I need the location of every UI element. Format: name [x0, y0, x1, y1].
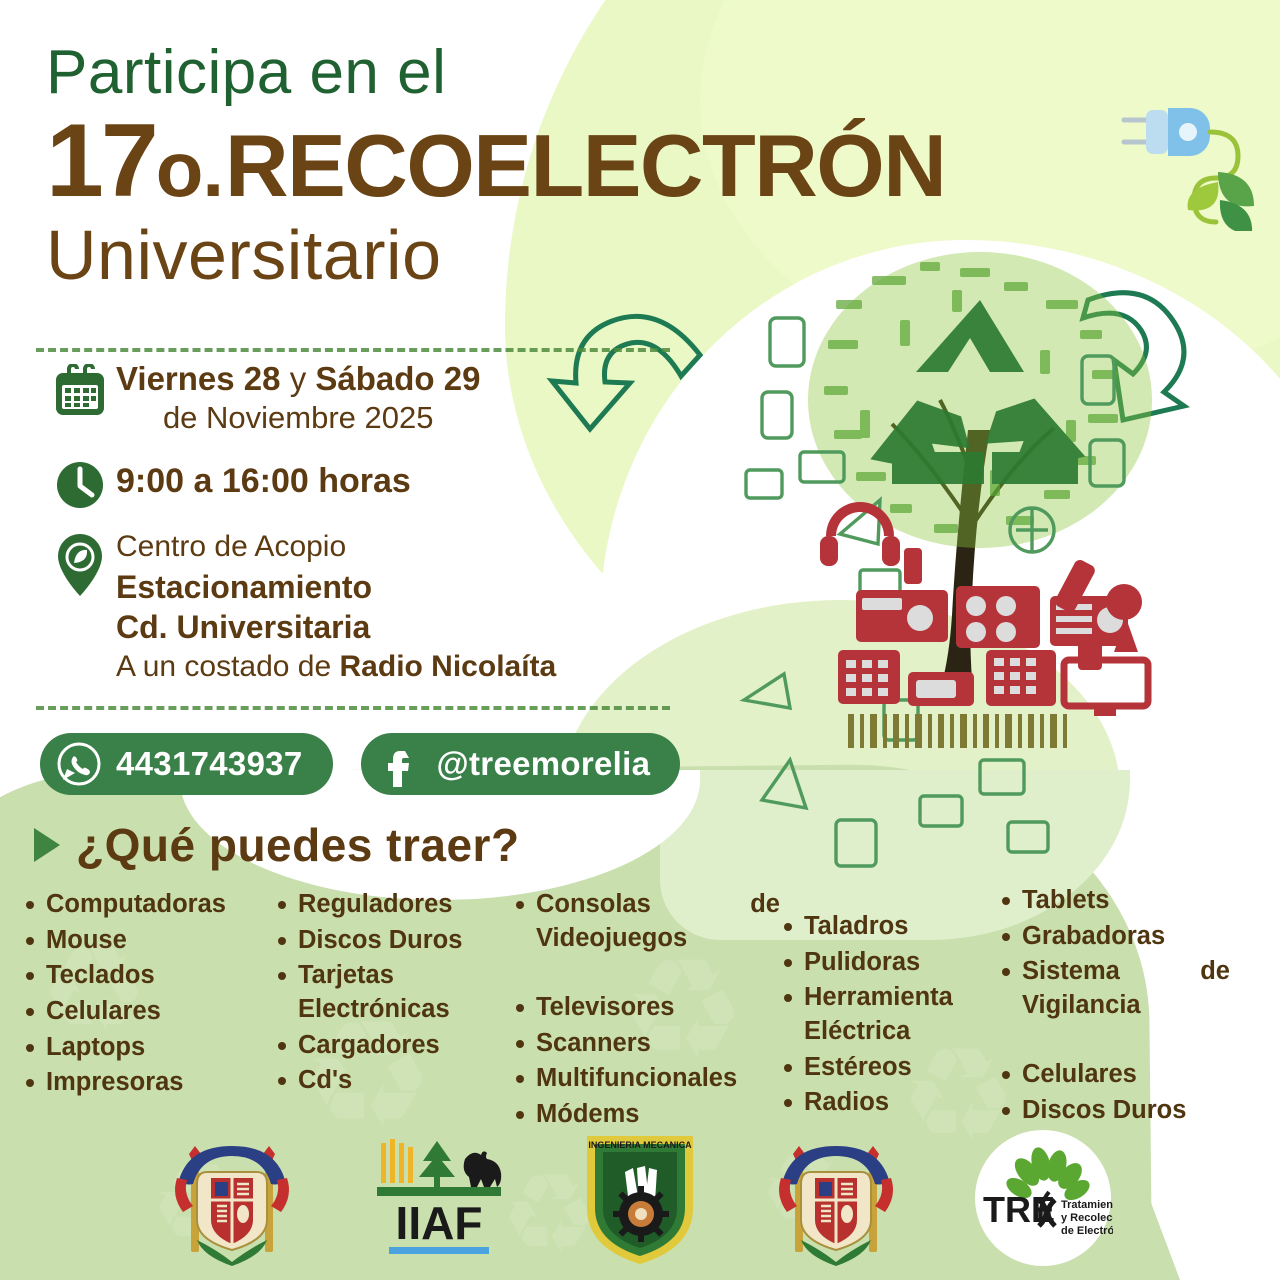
info-row-time: 9:00 a 16:00 horas — [44, 454, 724, 512]
list-item: Celulares — [22, 995, 274, 1029]
bring-column-5: Tablets Grabadoras Sistema de Vigilancia… — [998, 884, 1230, 1130]
bring-heading: ¿Qué puedes traer? — [76, 818, 520, 872]
event-title: 17 o. RECOELECTRÓN — [46, 111, 1246, 213]
list-item: Herramienta Eléctrica — [780, 981, 998, 1048]
bring-column-4: Taladros Pulidoras Herramienta Eléctrica… — [780, 910, 998, 1122]
bring-column-3: Consolas de Videojuegos Televisores Scan… — [512, 888, 780, 1134]
clock-icon — [44, 454, 116, 512]
list-item: Multifuncionales — [512, 1062, 780, 1096]
tre-logo: TRE Tratamiento y Recolección de Electró… — [973, 1128, 1113, 1268]
bring-column-1: Computadoras Mouse Teclados Celulares La… — [22, 888, 274, 1102]
contact-pills: 4431743937 @treemorelia — [40, 733, 680, 795]
place-text: Centro de Acopio Estacionamiento Cd. Uni… — [116, 528, 556, 687]
date-day-2: Sábado 29 — [315, 360, 480, 397]
place-line-4-landmark: Radio Nicolaíta — [340, 650, 557, 683]
list-item: Tablets — [998, 884, 1230, 918]
umsnh-seal-logo — [167, 1128, 297, 1268]
list-item: Cd's — [274, 1064, 512, 1098]
bring-columns: Computadoras Mouse Teclados Celulares La… — [22, 888, 1272, 1134]
tre-sub-3: de Electrónicos — [1061, 1225, 1113, 1237]
sponsor-logos: IIAF — [0, 1118, 1280, 1278]
umsnh-seal-logo-2 — [771, 1128, 901, 1268]
list-item: Reguladores — [274, 888, 512, 922]
divider-bottom — [36, 706, 670, 710]
power-plug-icon — [1118, 96, 1278, 231]
cow-icon — [464, 1151, 502, 1187]
tree-branches — [892, 400, 1054, 520]
iiaf-wordmark: IIAF — [396, 1197, 483, 1249]
bring-column-2: Reguladores Discos Duros Tarjetas Electr… — [274, 888, 512, 1100]
list-item: Mouse — [22, 924, 274, 958]
facebook-contact-button[interactable]: @treemorelia — [361, 733, 681, 795]
place-line-4: A un costado de Radio Nicolaíta — [116, 648, 556, 686]
list-item: Computadoras — [22, 888, 274, 922]
red-electronics-cluster — [820, 502, 1148, 716]
list-item: Pulidoras — [780, 946, 998, 980]
list-item: Estéreos — [780, 1051, 998, 1085]
event-info-block: Viernes 28 y Sábado 29 de Noviembre 2025… — [44, 360, 724, 703]
place-line-2: Estacionamiento — [116, 567, 556, 608]
list-item: Grabadoras — [998, 920, 1230, 954]
barcode-strip — [848, 714, 1067, 748]
ingenieria-mecanica-shield-logo: INGENIERIA MECANICA — [581, 1128, 699, 1268]
bring-heading-row: ¿Qué puedes traer? — [34, 818, 520, 872]
date-day-1: Viernes 28 — [116, 360, 281, 397]
list-item: Teclados — [22, 959, 274, 993]
tre-sub-1: Tratamiento — [1061, 1199, 1113, 1211]
triangle-play-icon — [34, 828, 60, 862]
list-item: Cargadores — [274, 1029, 512, 1063]
time-text: 9:00 a 16:00 horas — [116, 454, 411, 501]
location-pin-icon — [44, 528, 116, 598]
whatsapp-number: 4431743937 — [116, 745, 303, 783]
list-item: Televisores — [512, 991, 780, 1025]
poster-canvas: ♻ ♻ ♻ ♻ ♻ ♻ ♻ — [0, 0, 1280, 1280]
poster-header: Participa en el 17 o. RECOELECTRÓN Unive… — [46, 40, 1246, 295]
shield-top-caption: INGENIERIA MECANICA — [588, 1140, 692, 1150]
gear-icon — [613, 1186, 669, 1242]
recycle-icon — [870, 300, 1086, 484]
info-row-place: Centro de Acopio Estacionamiento Cd. Uni… — [44, 528, 724, 687]
whatsapp-icon — [56, 741, 102, 787]
leaf-icon — [1188, 172, 1254, 231]
pine-tree-icon — [419, 1141, 455, 1187]
iiaf-logo: IIAF — [369, 1135, 509, 1261]
info-row-date: Viernes 28 y Sábado 29 de Noviembre 2025 — [44, 360, 724, 436]
list-item: Scanners — [512, 1027, 780, 1061]
outline-gadgets — [744, 318, 1124, 866]
date-month-year: de Noviembre 2025 — [116, 399, 480, 436]
edition-number: 17 — [46, 111, 156, 213]
list-item: Impresoras — [22, 1066, 274, 1100]
list-item: Consolas de Videojuegos — [512, 888, 780, 989]
list-item: Celulares — [998, 1058, 1230, 1092]
list-item: Laptops — [22, 1031, 274, 1065]
whatsapp-contact-button[interactable]: 4431743937 — [40, 733, 333, 795]
list-item: Discos Duros — [274, 924, 512, 958]
facebook-handle: @treemorelia — [437, 745, 651, 783]
event-subtitle: Universitario — [46, 215, 1246, 295]
event-name: RECOELECTRÓN — [225, 123, 945, 209]
place-line-4-prefix: A un costado de — [116, 650, 340, 683]
facebook-icon — [377, 741, 423, 787]
edition-ordinal: o. — [156, 131, 223, 207]
place-line-3: Cd. Universitaria — [116, 607, 556, 648]
list-item: Radios — [780, 1086, 998, 1120]
date-text: Viernes 28 y Sábado 29 de Noviembre 2025 — [116, 360, 480, 436]
place-line-1: Centro de Acopio — [116, 528, 556, 566]
list-item: Sistema de Vigilancia — [998, 955, 1230, 1056]
tree-canopy — [808, 252, 1152, 548]
list-item: Taladros — [780, 910, 998, 944]
kicker-text: Participa en el — [46, 40, 1246, 105]
date-conjunction: y — [281, 360, 316, 397]
calendar-icon — [44, 360, 116, 418]
tre-sub-2: y Recolección — [1061, 1212, 1113, 1224]
list-item: Tarjetas Electrónicas — [274, 959, 512, 1026]
divider-top — [36, 348, 670, 352]
tree-trunk — [938, 430, 990, 699]
